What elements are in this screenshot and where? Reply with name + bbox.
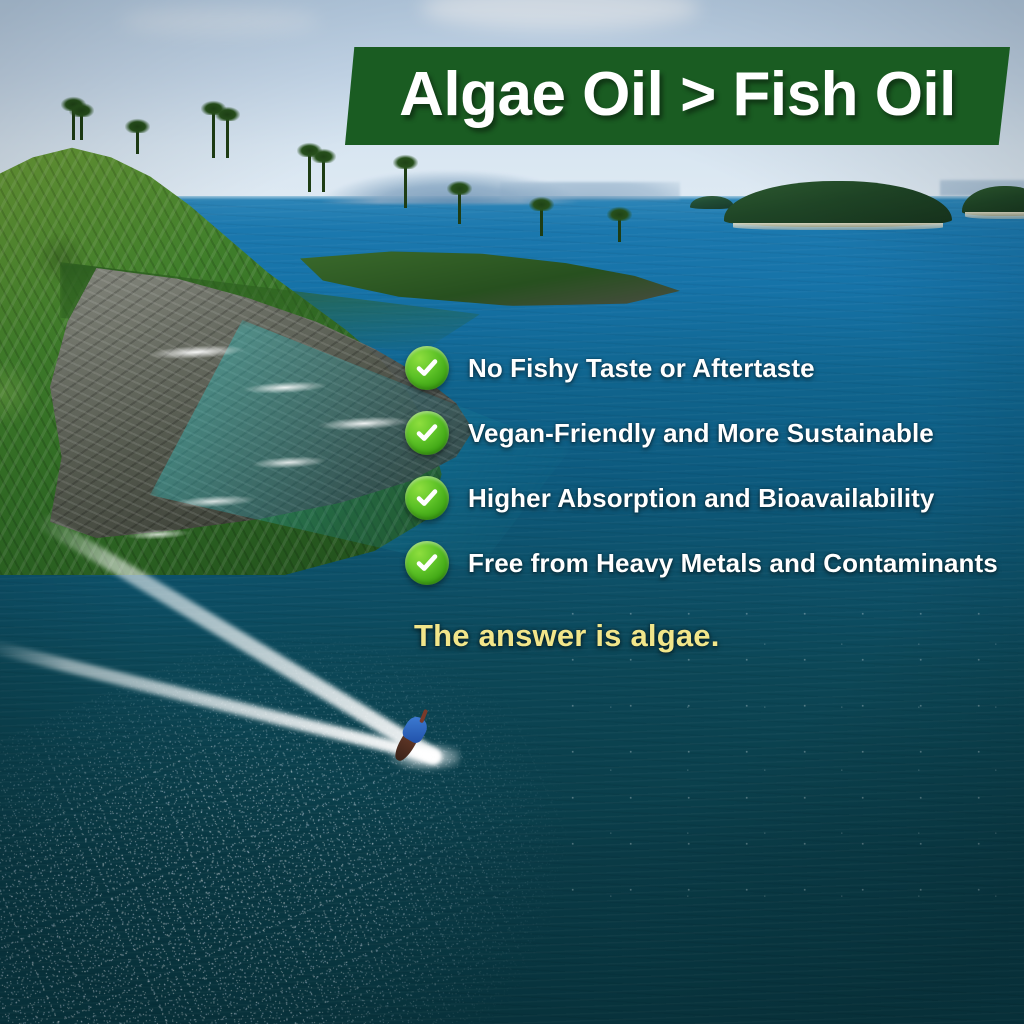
list-item: Vegan-Friendly and More Sustainable bbox=[405, 411, 1015, 455]
palm-tree bbox=[618, 216, 621, 242]
check-circle-icon bbox=[405, 411, 449, 455]
check-circle-icon bbox=[405, 476, 449, 520]
headline-banner: Algae Oil > Fish Oil bbox=[345, 47, 1010, 145]
list-item: Free from Heavy Metals and Contaminants bbox=[405, 541, 1015, 585]
palm-tree bbox=[458, 190, 461, 224]
headline-text: Algae Oil > Fish Oil bbox=[399, 59, 956, 130]
benefit-label: Free from Heavy Metals and Contaminants bbox=[468, 548, 998, 579]
cloud bbox=[120, 8, 320, 34]
benefit-list: No Fishy Taste or Aftertaste Vegan-Frien… bbox=[405, 346, 1015, 606]
palm-tree bbox=[226, 116, 229, 158]
palm-tree bbox=[404, 164, 407, 208]
list-item: No Fishy Taste or Aftertaste bbox=[405, 346, 1015, 390]
benefit-label: No Fishy Taste or Aftertaste bbox=[468, 353, 815, 384]
list-item: Higher Absorption and Bioavailability bbox=[405, 476, 1015, 520]
check-circle-icon bbox=[405, 346, 449, 390]
palm-tree bbox=[136, 128, 139, 154]
island-beach bbox=[733, 223, 943, 230]
distant-mountain bbox=[500, 182, 680, 200]
palm-tree bbox=[322, 158, 325, 192]
boat-wake bbox=[0, 742, 490, 1024]
benefit-label: Higher Absorption and Bioavailability bbox=[468, 483, 934, 514]
promo-graphic: Algae Oil > Fish Oil No Fishy Taste or A… bbox=[0, 0, 1024, 1024]
island-beach bbox=[965, 212, 1024, 219]
check-circle-icon bbox=[405, 541, 449, 585]
palm-tree bbox=[540, 206, 543, 236]
tagline: The answer is algae. bbox=[414, 618, 720, 654]
palm-tree bbox=[80, 112, 83, 140]
benefit-label: Vegan-Friendly and More Sustainable bbox=[468, 418, 934, 449]
